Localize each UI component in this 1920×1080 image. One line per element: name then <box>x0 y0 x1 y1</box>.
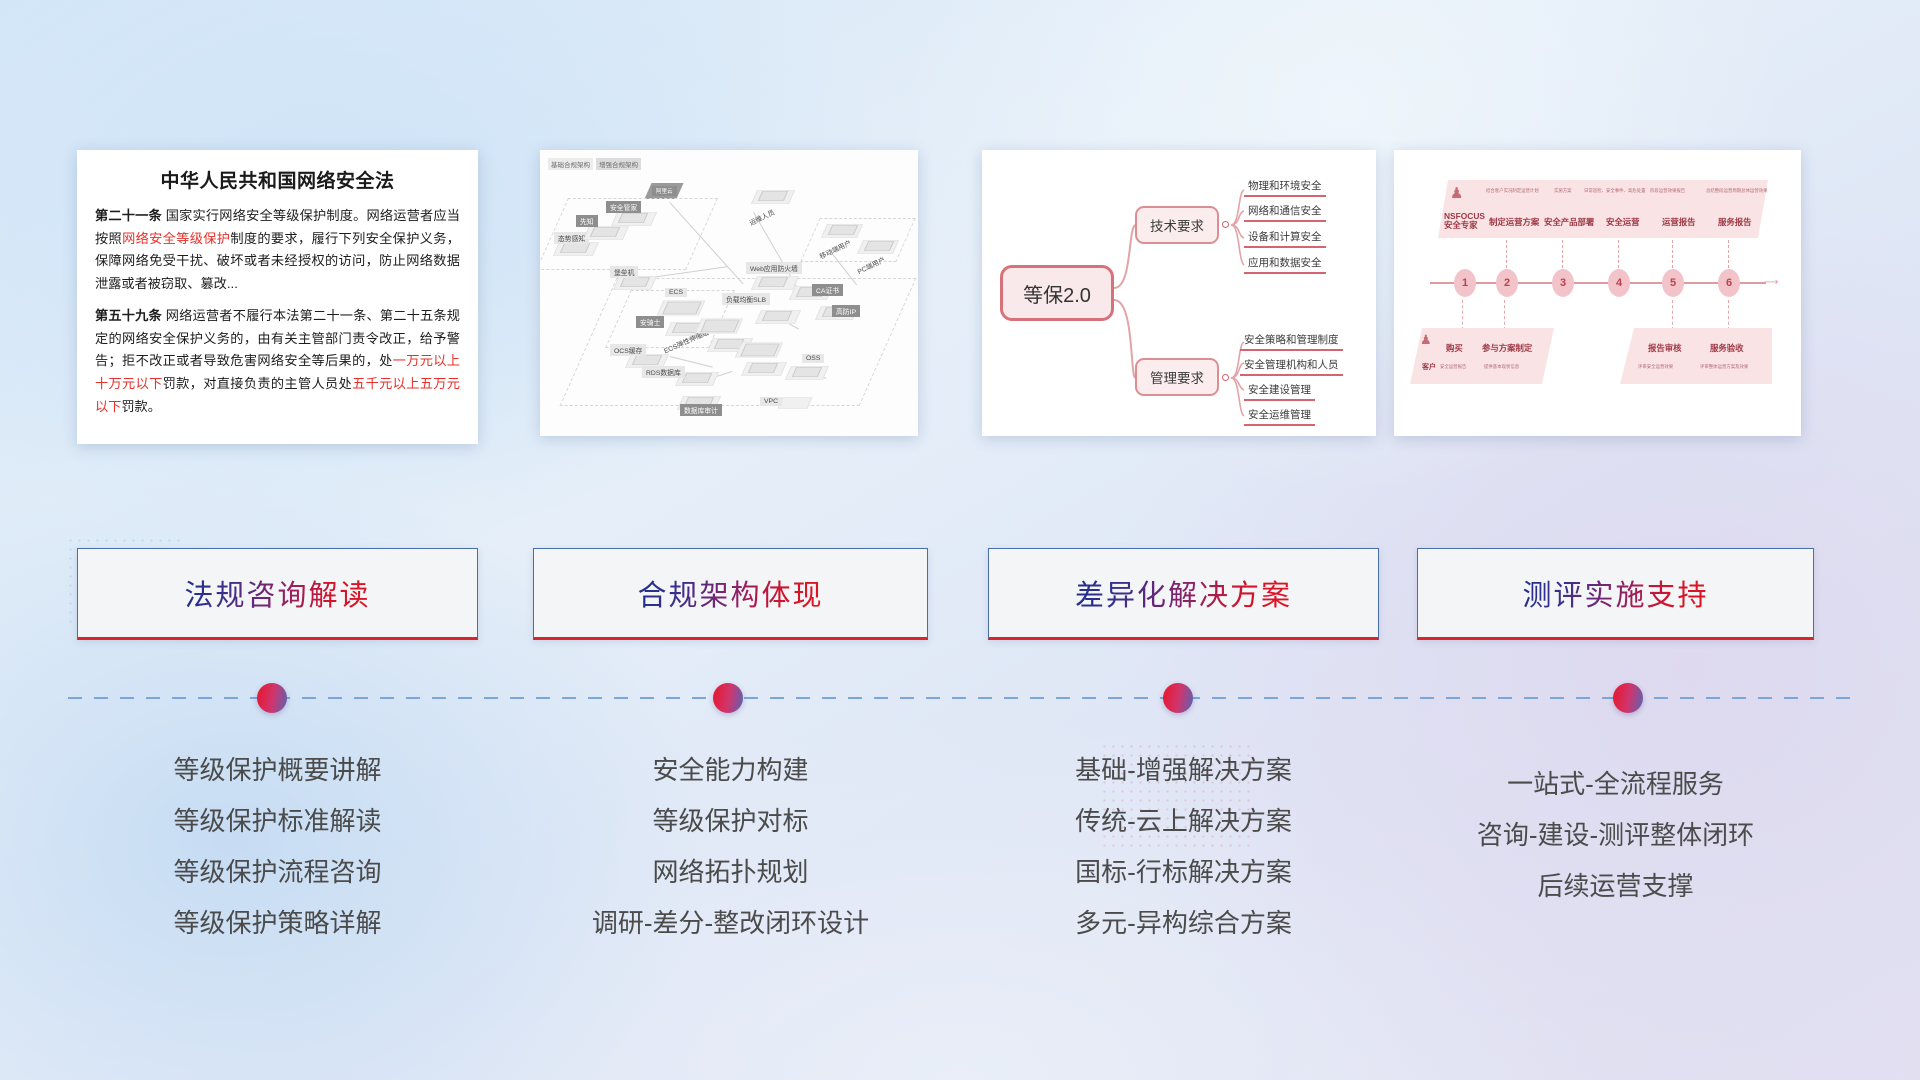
list-item: 多元-异构综合方案 <box>988 898 1379 949</box>
leaf-device-compute-security: 设备和计算安全 <box>1244 229 1326 248</box>
cards-row: 中华人民共和国网络安全法 第二十一条 国家实行网络安全等级保护制度。网络运营者应… <box>0 150 1920 450</box>
card-law-document[interactable]: 中华人民共和国网络安全法 第二十一条 国家实行网络安全等级保护制度。网络运营者应… <box>77 150 478 444</box>
timeline-node-1[interactable] <box>257 683 287 713</box>
heading-label-4: 测评实施支持 <box>1522 572 1708 614</box>
article-59-text-mid: 罚款，对直接负责的主管人员处 <box>163 376 352 391</box>
list-compliance-architecture: 安全能力构建 等级保护对标 网络拓扑规划 调研-差分-整改闭环设计 <box>533 745 928 949</box>
list-item: 后续运营支撑 <box>1417 861 1814 912</box>
timeline-dashed-axis <box>68 697 1852 699</box>
top-step-3-sub: 日常巡检、安全事件、高危处置 <box>1584 188 1645 194</box>
tab-enhanced-compliance[interactable]: 增强合规架构 <box>596 158 641 170</box>
top-step-5-sub: 总结整段运营周期总体运营效果 <box>1706 188 1767 194</box>
node-label-bastion-host: 堡垒机 <box>610 266 638 278</box>
timeline-axis <box>1430 282 1766 284</box>
top-step-1-sub: 结合客户实况制定运营计划 <box>1486 188 1539 194</box>
heading-box-regulation-consulting[interactable]: 法规咨询解读 <box>77 548 478 640</box>
timeline-node-3[interactable] <box>1163 683 1193 713</box>
bottom-step-2-sub: 提供基本现状信息 <box>1484 364 1519 370</box>
heading-label-2: 合规架构体现 <box>637 572 823 614</box>
list-item: 基础-增强解决方案 <box>988 745 1379 796</box>
timeline-step-4[interactable]: 4 <box>1608 269 1630 297</box>
timeline-node-2[interactable] <box>713 683 743 713</box>
bottom-step-3-sub: 评审安全运营效果 <box>1638 364 1673 370</box>
expert-role-label: NSFOCUS 安全专家 <box>1444 212 1485 230</box>
top-step-2-sub: 实施方案 <box>1554 188 1572 194</box>
node-label-security-butler: 安全管家 <box>606 201 641 213</box>
bottom-step-1-sub: 安全运营报告 <box>1440 364 1466 370</box>
top-step-4-title: 运营报告 <box>1662 216 1696 228</box>
expert-person-icon: ♟ <box>1450 184 1463 202</box>
customer-person-icon: ♟ <box>1420 332 1432 348</box>
list-differentiated-solutions: 基础-增强解决方案 传统-云上解决方案 国标-行标解决方案 多元-异构综合方案 <box>988 745 1379 949</box>
leaf-app-data-security: 应用和数据安全 <box>1244 255 1326 274</box>
timeline-step-3[interactable]: 3 <box>1552 269 1574 297</box>
node-label-ca-cert: CA证书 <box>812 284 843 296</box>
article-21-label: 第二十一条 <box>95 208 162 223</box>
top-step-5-title: 服务报告 <box>1718 216 1752 228</box>
timeline-step-2[interactable]: 2 <box>1496 269 1518 297</box>
list-item: 咨询-建设-测评整体闭环 <box>1417 810 1814 861</box>
node-label-db-audit: 数据库审计 <box>680 404 722 416</box>
leaf-security-policy: 安全策略和管理制度 <box>1240 332 1343 351</box>
leaf-security-org-staff: 安全管理机构和人员 <box>1240 357 1343 376</box>
timeline-node-4[interactable] <box>1613 683 1643 713</box>
timeline-step-6[interactable]: 6 <box>1718 269 1740 297</box>
architecture-diagram: 基础合规架构 增强合规架构 阿里云 态势感知 先知 <box>540 150 918 436</box>
law-article-21: 第二十一条 国家实行网络安全等级保护制度。网络运营者应当按照网络安全等级保护制度… <box>95 205 460 296</box>
law-document: 中华人民共和国网络安全法 第二十一条 国家实行网络安全等级保护制度。网络运营者应… <box>77 150 478 428</box>
top-step-2-title: 安全产品部署 <box>1544 216 1594 228</box>
top-step-4-sub: 阶段运营效果报告 <box>1650 188 1685 194</box>
node-label-anti-ddos-ip: 高防IP <box>832 305 860 317</box>
list-item: 安全能力构建 <box>533 745 928 796</box>
section-headings-row: 法规咨询解读 合规架构体现 差异化解决方案 测评实施支持 <box>0 548 1920 644</box>
node-label-waf: Web应用防火墙 <box>746 262 802 274</box>
branch-knob-technical-icon[interactable] <box>1222 221 1229 228</box>
list-item: 等级保护概要讲解 <box>77 745 478 796</box>
leaf-security-ops: 安全运维管理 <box>1244 407 1315 426</box>
mindmap-branch-management: 管理要求 <box>1135 358 1219 396</box>
mindmap-root: 等保2.0 <box>1000 265 1114 321</box>
list-item: 一站式-全流程服务 <box>1417 759 1814 810</box>
heading-box-differentiated-solutions[interactable]: 差异化解决方案 <box>988 548 1379 640</box>
node-label-vpc: VPC <box>760 397 782 406</box>
node-label-rds-database: RDS数据库 <box>642 366 685 378</box>
bottom-step-1-title: 购买 <box>1446 342 1463 354</box>
list-item: 国标-行标解决方案 <box>988 847 1379 898</box>
bottom-step-3-title: 报告审核 <box>1648 342 1682 354</box>
list-assessment-support: 一站式-全流程服务 咨询-建设-测评整体闭环 后续运营支撑 <box>1417 759 1814 912</box>
tab-basic-compliance[interactable]: 基础合规架构 <box>548 158 593 170</box>
bottom-step-4-sub: 评审整体运营方案及效果 <box>1700 364 1748 370</box>
list-item: 等级保护策略详解 <box>77 898 478 949</box>
mindmap-diagram: 等保2.0 技术要求 物理和环境安全 网络和通信安全 设备和计算安全 应用和数据… <box>982 150 1376 436</box>
list-item: 传统-云上解决方案 <box>988 796 1379 847</box>
list-item: 网络拓扑规划 <box>533 847 928 898</box>
customer-band-right <box>1620 328 1772 384</box>
nsfocus-timeline-diagram: ♟ NSFOCUS 安全专家 结合客户实况制定运营计划 制定运营方案 实施方案 … <box>1394 150 1801 436</box>
node-label-oss: OSS <box>802 354 824 363</box>
article-21-highlight: 网络安全等级保护 <box>122 231 230 246</box>
heading-label-3: 差异化解决方案 <box>1075 572 1292 614</box>
customer-role-label: 客户 <box>1422 362 1436 372</box>
list-item: 等级保护标准解读 <box>77 796 478 847</box>
branch-knob-management-icon[interactable] <box>1222 374 1229 381</box>
node-label-ocs-cache: OCS缓存 <box>610 344 646 356</box>
top-step-3-title: 安全运营 <box>1606 216 1640 228</box>
timeline-step-1[interactable]: 1 <box>1454 269 1476 297</box>
heading-box-compliance-architecture[interactable]: 合规架构体现 <box>533 548 928 640</box>
list-item: 调研-差分-整改闭环设计 <box>533 898 928 949</box>
law-article-59: 第五十九条 网络运营者不履行本法第二十一条、第二十五条规定的网络安全保护义务的，… <box>95 305 460 419</box>
top-step-1-title: 制定运营方案 <box>1489 216 1539 228</box>
timeline-step-5[interactable]: 5 <box>1662 269 1684 297</box>
timeline-arrow-icon: ⟶ <box>1764 277 1778 288</box>
card-service-timeline[interactable]: ♟ NSFOCUS 安全专家 结合客户实况制定运营计划 制定运营方案 实施方案 … <box>1394 150 1801 436</box>
card-cloud-architecture[interactable]: 基础合规架构 增强合规架构 阿里云 态势感知 先知 <box>540 150 918 436</box>
node-label-anqishi: 安骑士 <box>636 316 664 328</box>
leaf-physical-env-security: 物理和环境安全 <box>1244 178 1326 197</box>
cloud-chip-label: 阿里云 <box>652 186 677 196</box>
law-title: 中华人民共和国网络安全法 <box>95 166 460 193</box>
card-mindmap[interactable]: 等保2.0 技术要求 物理和环境安全 网络和通信安全 设备和计算安全 应用和数据… <box>982 150 1376 436</box>
node-label-ecs: ECS <box>665 288 687 297</box>
article-59-label: 第五十九条 <box>95 308 162 323</box>
list-item: 等级保护对标 <box>533 796 928 847</box>
article-59-text-end: 罚款。 <box>121 399 161 414</box>
bottom-step-4-title: 服务验收 <box>1710 342 1744 354</box>
heading-label-1: 法规咨询解读 <box>184 572 370 614</box>
node-label-xianzhi: 先知 <box>576 215 598 227</box>
list-item: 等级保护流程咨询 <box>77 847 478 898</box>
node-label-slb: 负载均衡SLB <box>722 293 770 305</box>
leaf-security-construction: 安全建设管理 <box>1244 382 1315 401</box>
heading-box-assessment-support[interactable]: 测评实施支持 <box>1417 548 1814 640</box>
mindmap-branch-technical: 技术要求 <box>1135 206 1219 244</box>
leaf-network-comm-security: 网络和通信安全 <box>1244 203 1326 222</box>
bottom-step-2-title: 参与方案制定 <box>1482 342 1532 354</box>
list-regulation-consulting: 等级保护概要讲解 等级保护标准解读 等级保护流程咨询 等级保护策略详解 <box>77 745 478 949</box>
